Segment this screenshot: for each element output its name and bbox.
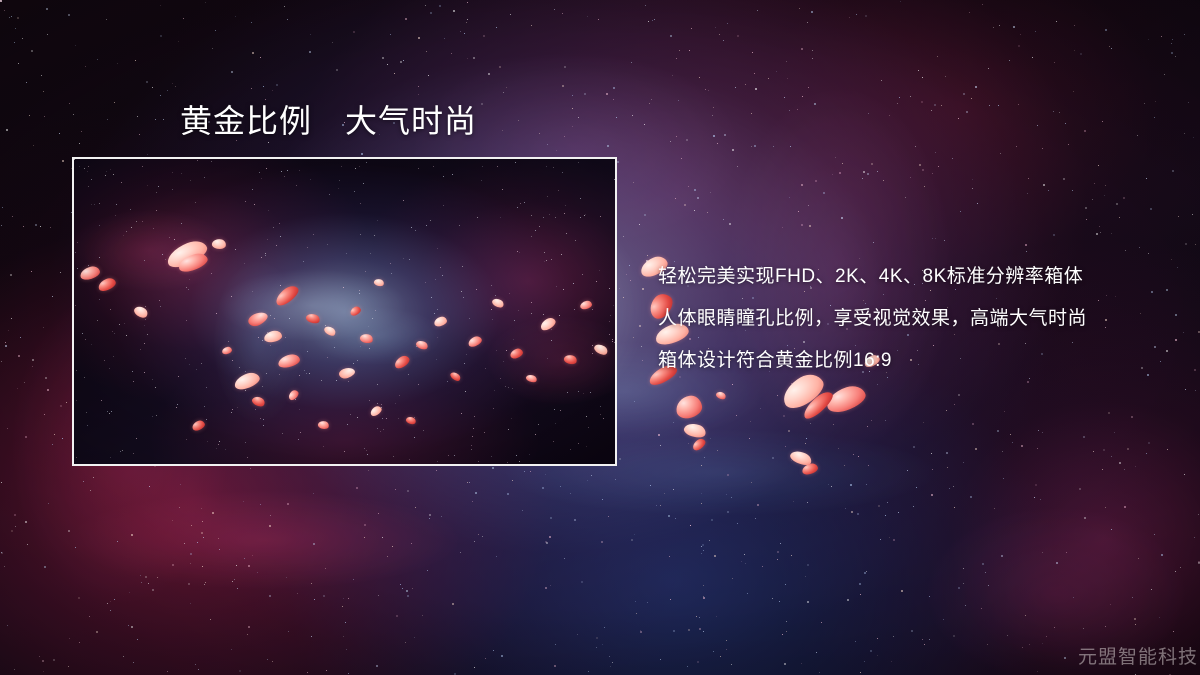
- description-line-2: 人体眼睛瞳孔比例，享受视觉效果，高端大气时尚: [658, 298, 1178, 340]
- description-line-3: 箱体设计符合黄金比例16:9: [658, 340, 1178, 382]
- page-title: 黄金比例 大气时尚: [180, 101, 477, 141]
- starfield-bright: [0, 0, 2, 2]
- flower-petal: [691, 437, 708, 452]
- flower-petal: [674, 394, 703, 420]
- presentation-slide: 黄金比例 大气时尚 轻松完美实现FHD、2K、4K、8K标准分辨率箱体 人体眼睛…: [0, 0, 1200, 675]
- feature-description: 轻松完美实现FHD、2K、4K、8K标准分辨率箱体 人体眼睛瞳孔比例，享受视觉效…: [658, 256, 1178, 382]
- description-line-1: 轻松完美实现FHD、2K、4K、8K标准分辨率箱体: [658, 256, 1178, 298]
- brand-watermark: 元盟智能科技: [1078, 645, 1198, 671]
- framed-galaxy-image: [72, 157, 617, 466]
- flower-petal: [683, 421, 708, 440]
- frame-vignette: [74, 159, 615, 464]
- flower-petal: [715, 390, 727, 401]
